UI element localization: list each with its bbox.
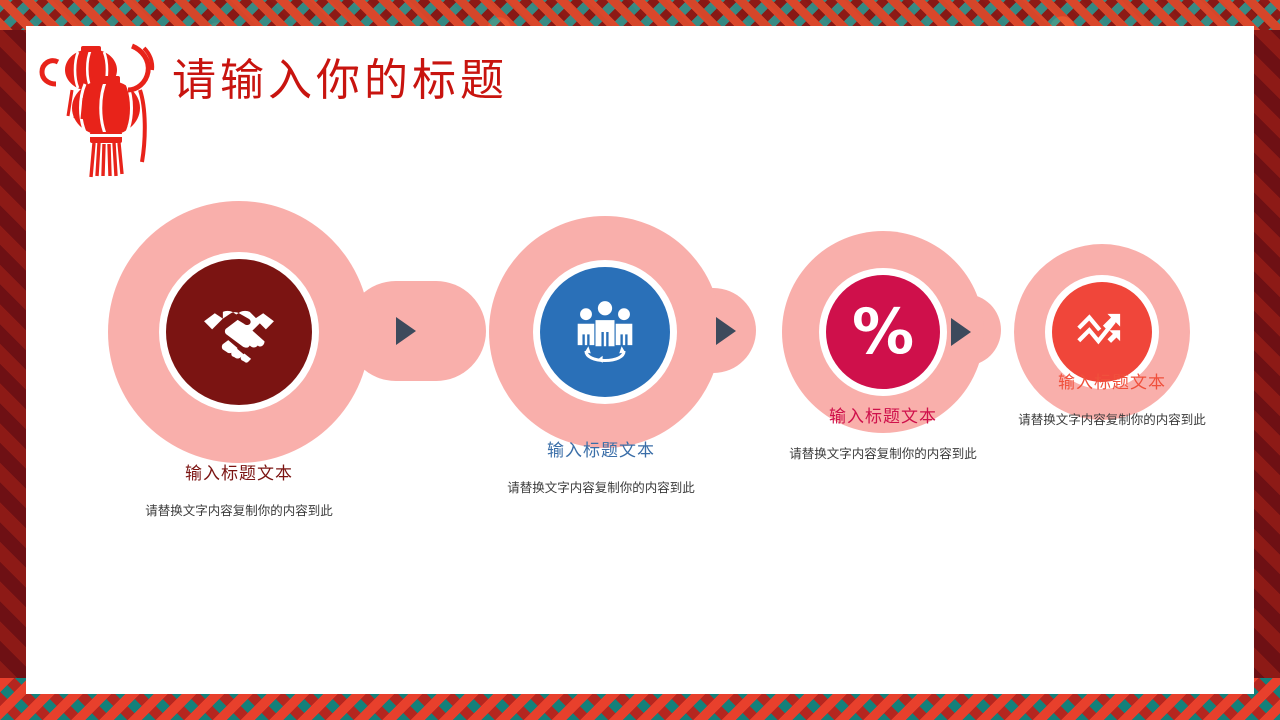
step-2-icon-disc[interactable] (540, 267, 670, 397)
step-1-title: 输入标题文本 (114, 459, 364, 484)
arrow-1-icon (396, 317, 416, 345)
handshake-icon (196, 289, 282, 375)
step-1-caption: 输入标题文本 请替换文字内容复制你的内容到此 (114, 459, 364, 519)
step-3-desc: 请替换文字内容复制你的内容到此 (758, 443, 1008, 462)
team-people-icon (567, 294, 643, 370)
arrow-2-icon (716, 317, 736, 345)
slide-card: 请输入你的标题 (26, 26, 1254, 694)
step-3-caption: 输入标题文本 请替换文字内容复制你的内容到此 (758, 402, 1008, 462)
arrow-3-icon (951, 318, 971, 346)
step-2-title: 输入标题文本 (476, 436, 726, 461)
step-3-title: 输入标题文本 (758, 402, 1008, 427)
step-2-caption: 输入标题文本 请替换文字内容复制你的内容到此 (476, 436, 726, 496)
step-2-desc: 请替换文字内容复制你的内容到此 (476, 477, 726, 496)
percent-icon: % (852, 301, 914, 363)
step-1-desc: 请替换文字内容复制你的内容到此 (114, 500, 364, 519)
step-4-caption: 输入标题文本 请替换文字内容复制你的内容到此 (987, 368, 1237, 428)
process-chain: % (26, 26, 1254, 694)
step-4-title: 输入标题文本 (987, 368, 1237, 393)
step-4-icon-disc[interactable] (1052, 282, 1152, 382)
step-1-icon-disc[interactable] (166, 259, 312, 405)
growth-chart-icon (1073, 303, 1131, 361)
step-3-icon-disc[interactable]: % (826, 275, 940, 389)
step-4-desc: 请替换文字内容复制你的内容到此 (987, 409, 1237, 428)
